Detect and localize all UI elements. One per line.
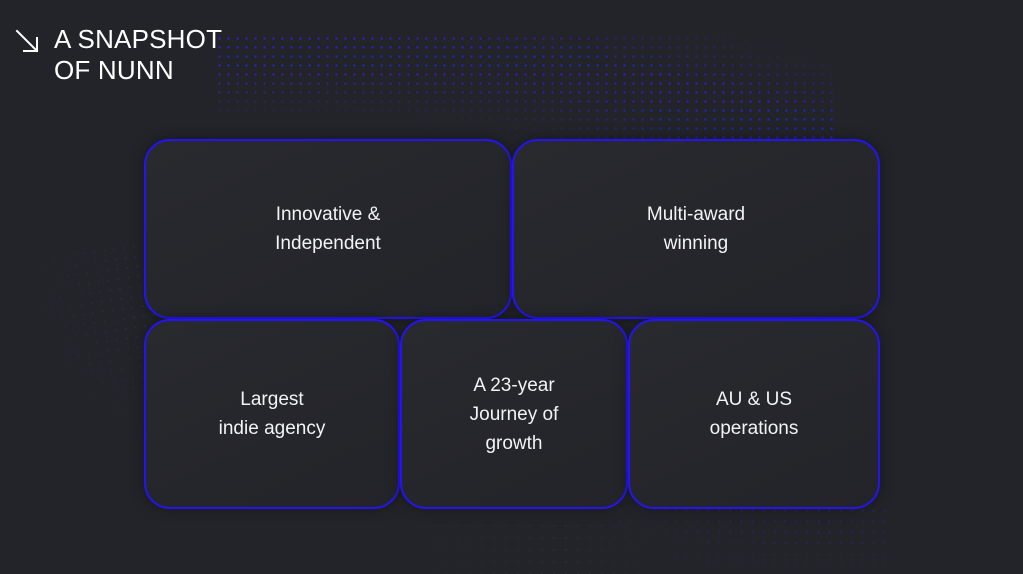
card-label: Largest indie agency	[203, 385, 342, 443]
card-label: Innovative & Independent	[259, 200, 397, 258]
card-journey-of-growth[interactable]: A 23-year Journey of growth	[400, 319, 628, 509]
card-label: AU & US operations	[694, 385, 815, 443]
card-multi-award-winning[interactable]: Multi-award winning	[512, 139, 880, 319]
card-au-us-operations[interactable]: AU & US operations	[628, 319, 880, 509]
slide-canvas: A SNAPSHOT OF NUNN Innovative & Independ…	[0, 0, 1023, 574]
arrow-down-right-icon	[14, 28, 44, 58]
card-label: Multi-award winning	[631, 200, 761, 258]
slide-heading: A SNAPSHOT OF NUNN	[14, 24, 222, 86]
card-largest-indie-agency[interactable]: Largest indie agency	[144, 319, 400, 509]
dot-pattern-bottom-left	[380, 520, 640, 574]
card-label: A 23-year Journey of growth	[454, 371, 575, 458]
dot-pattern-bottom	[560, 505, 890, 574]
card-innovative-independent[interactable]: Innovative & Independent	[144, 139, 512, 319]
page-title: A SNAPSHOT OF NUNN	[54, 24, 222, 86]
